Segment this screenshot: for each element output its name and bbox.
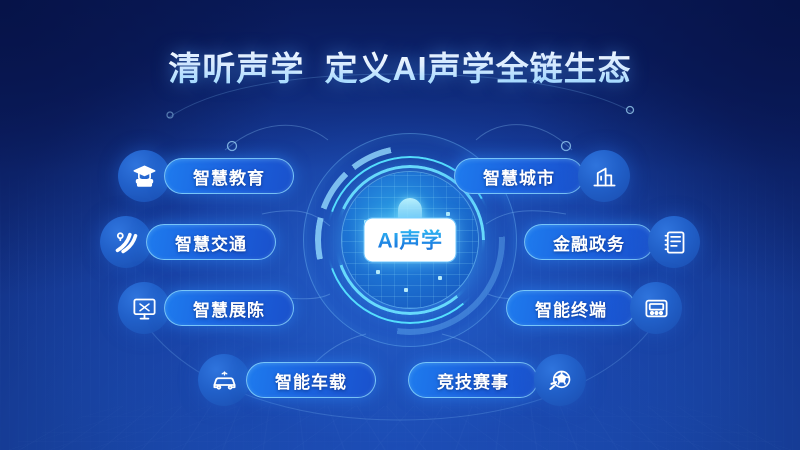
graduation-cap-books-icon bbox=[118, 150, 170, 202]
node-smart-transport[interactable]: 智慧交通 bbox=[100, 216, 276, 268]
car-icon bbox=[198, 354, 250, 406]
node-smart-education[interactable]: 智慧教育 bbox=[118, 150, 294, 202]
city-building-icon bbox=[578, 150, 630, 202]
node-smart-exhibition[interactable]: 智慧展陈 bbox=[118, 282, 294, 334]
pill-smart-transport[interactable]: 智慧交通 bbox=[146, 224, 276, 260]
pill-smart-exhibition[interactable]: 智慧展陈 bbox=[164, 290, 294, 326]
hub-core-label-text: AI声学 bbox=[378, 230, 443, 253]
circuit-node bbox=[446, 212, 450, 216]
smart-terminal-device-icon bbox=[630, 282, 682, 334]
node-smart-city[interactable]: 智慧城市 bbox=[454, 150, 630, 202]
pill-finance-government[interactable]: 金融政务 bbox=[524, 224, 654, 260]
pill-smart-city[interactable]: 智慧城市 bbox=[454, 158, 584, 194]
road-highway-icon bbox=[100, 216, 152, 268]
poster-canvas: 清听声学 定义AI声学全链生态 AI声学 智慧 bbox=[0, 0, 800, 450]
hub-core-label: AI声学 bbox=[364, 218, 457, 263]
circuit-node bbox=[376, 270, 380, 274]
node-finance-government[interactable]: 金融政务 bbox=[524, 216, 700, 268]
node-smart-vehicle[interactable]: 智能车载 bbox=[198, 354, 376, 406]
pill-esports-events[interactable]: 竞技赛事 bbox=[408, 362, 538, 398]
page-title: 清听声学 定义AI声学全链生态 bbox=[0, 42, 800, 90]
pill-smart-vehicle[interactable]: 智能车载 bbox=[246, 362, 376, 398]
perspective-grid-texture bbox=[0, 406, 800, 450]
soccer-ball-icon bbox=[534, 354, 586, 406]
node-esports-events[interactable]: 竞技赛事 bbox=[412, 354, 586, 406]
circuit-node bbox=[404, 288, 408, 292]
circuit-node bbox=[438, 276, 442, 280]
pill-smart-education[interactable]: 智慧教育 bbox=[164, 158, 294, 194]
pill-smart-terminal[interactable]: 智能终端 bbox=[506, 290, 636, 326]
presentation-board-icon bbox=[118, 282, 170, 334]
node-smart-terminal[interactable]: 智能终端 bbox=[506, 282, 682, 334]
ledger-notebook-icon bbox=[648, 216, 700, 268]
